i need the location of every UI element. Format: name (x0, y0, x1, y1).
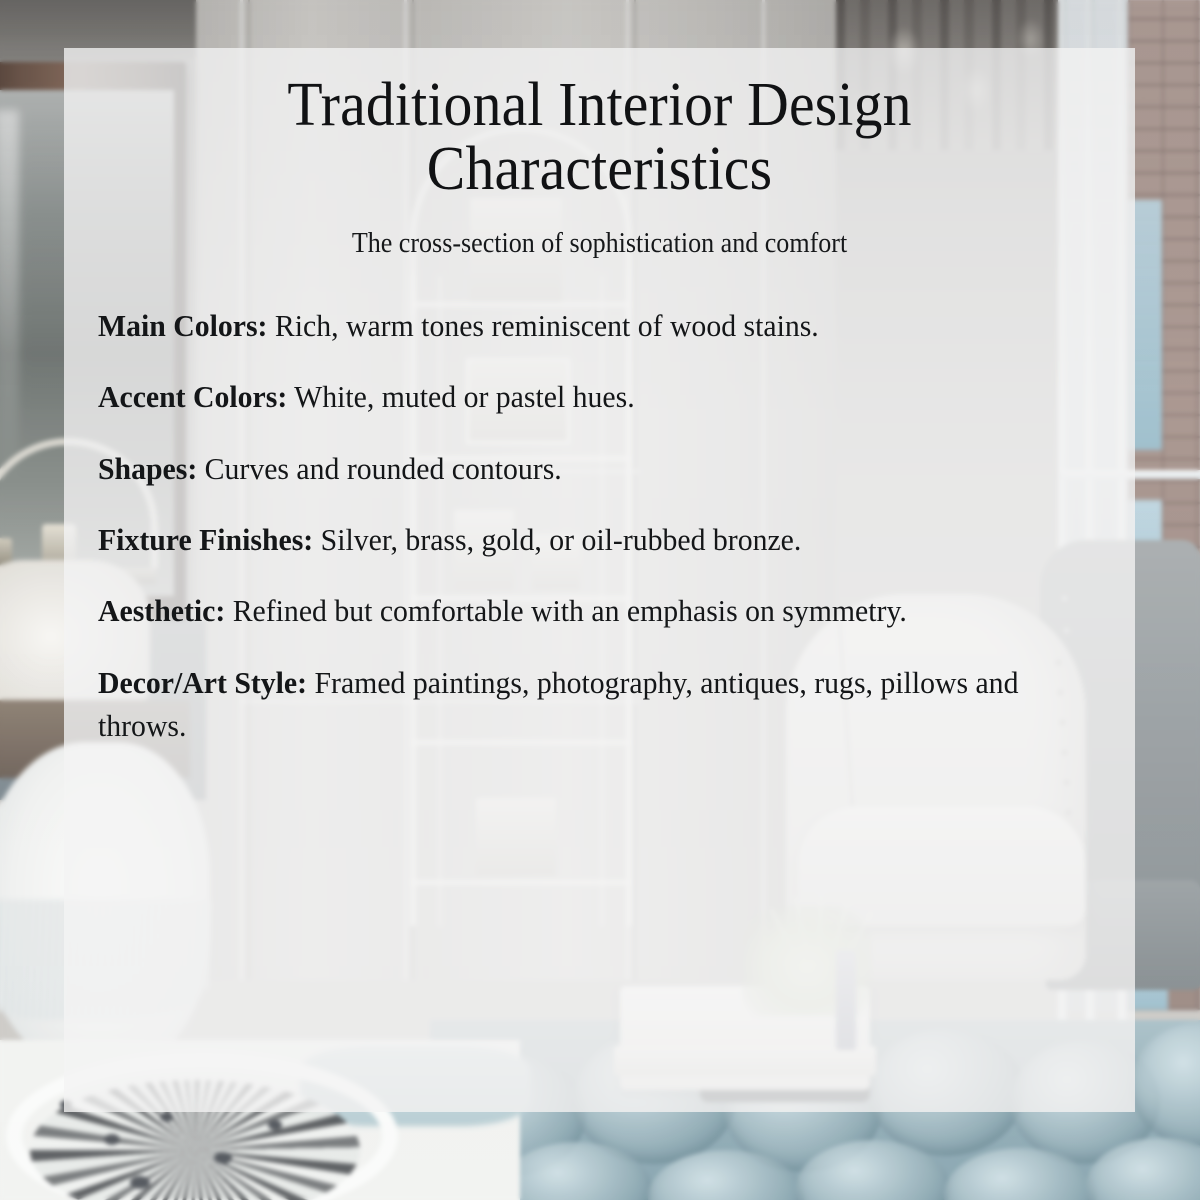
characteristic-item: Accent Colors: White, muted or pastel hu… (98, 375, 1061, 418)
characteristic-item: Main Colors: Rich, warm tones reminiscen… (98, 304, 1061, 347)
characteristic-value: Curves and rounded contours. (197, 451, 562, 486)
page-subtitle: The cross-section of sophistication and … (133, 228, 1066, 260)
infographic-canvas: Traditional Interior Design Characterist… (0, 0, 1200, 1200)
translucent-text-overlay: Traditional Interior Design Characterist… (64, 48, 1135, 1112)
characteristic-label: Shapes: (98, 451, 197, 486)
characteristic-value: Rich, warm tones reminiscent of wood sta… (267, 308, 818, 343)
characteristics-list: Main Colors: Rich, warm tones reminiscen… (98, 304, 1101, 748)
characteristic-value: White, muted or pastel hues. (287, 379, 634, 414)
characteristic-label: Accent Colors: (98, 379, 287, 414)
characteristic-item: Shapes: Curves and rounded contours. (98, 447, 1061, 490)
characteristic-value: Refined but comfortable with an emphasis… (225, 593, 907, 628)
characteristic-label: Decor/Art Style: (98, 665, 307, 700)
characteristic-item: Fixture Finishes: Silver, brass, gold, o… (98, 518, 1061, 561)
characteristic-label: Fixture Finishes: (98, 522, 313, 557)
page-title: Traditional Interior Design Characterist… (133, 74, 1066, 202)
characteristic-label: Main Colors: (98, 308, 267, 343)
characteristic-item: Aesthetic: Refined but comfortable with … (98, 589, 1061, 632)
characteristic-item: Decor/Art Style: Framed paintings, photo… (98, 661, 1061, 748)
characteristic-value: Silver, brass, gold, or oil-rubbed bronz… (313, 522, 801, 557)
characteristic-label: Aesthetic: (98, 593, 225, 628)
